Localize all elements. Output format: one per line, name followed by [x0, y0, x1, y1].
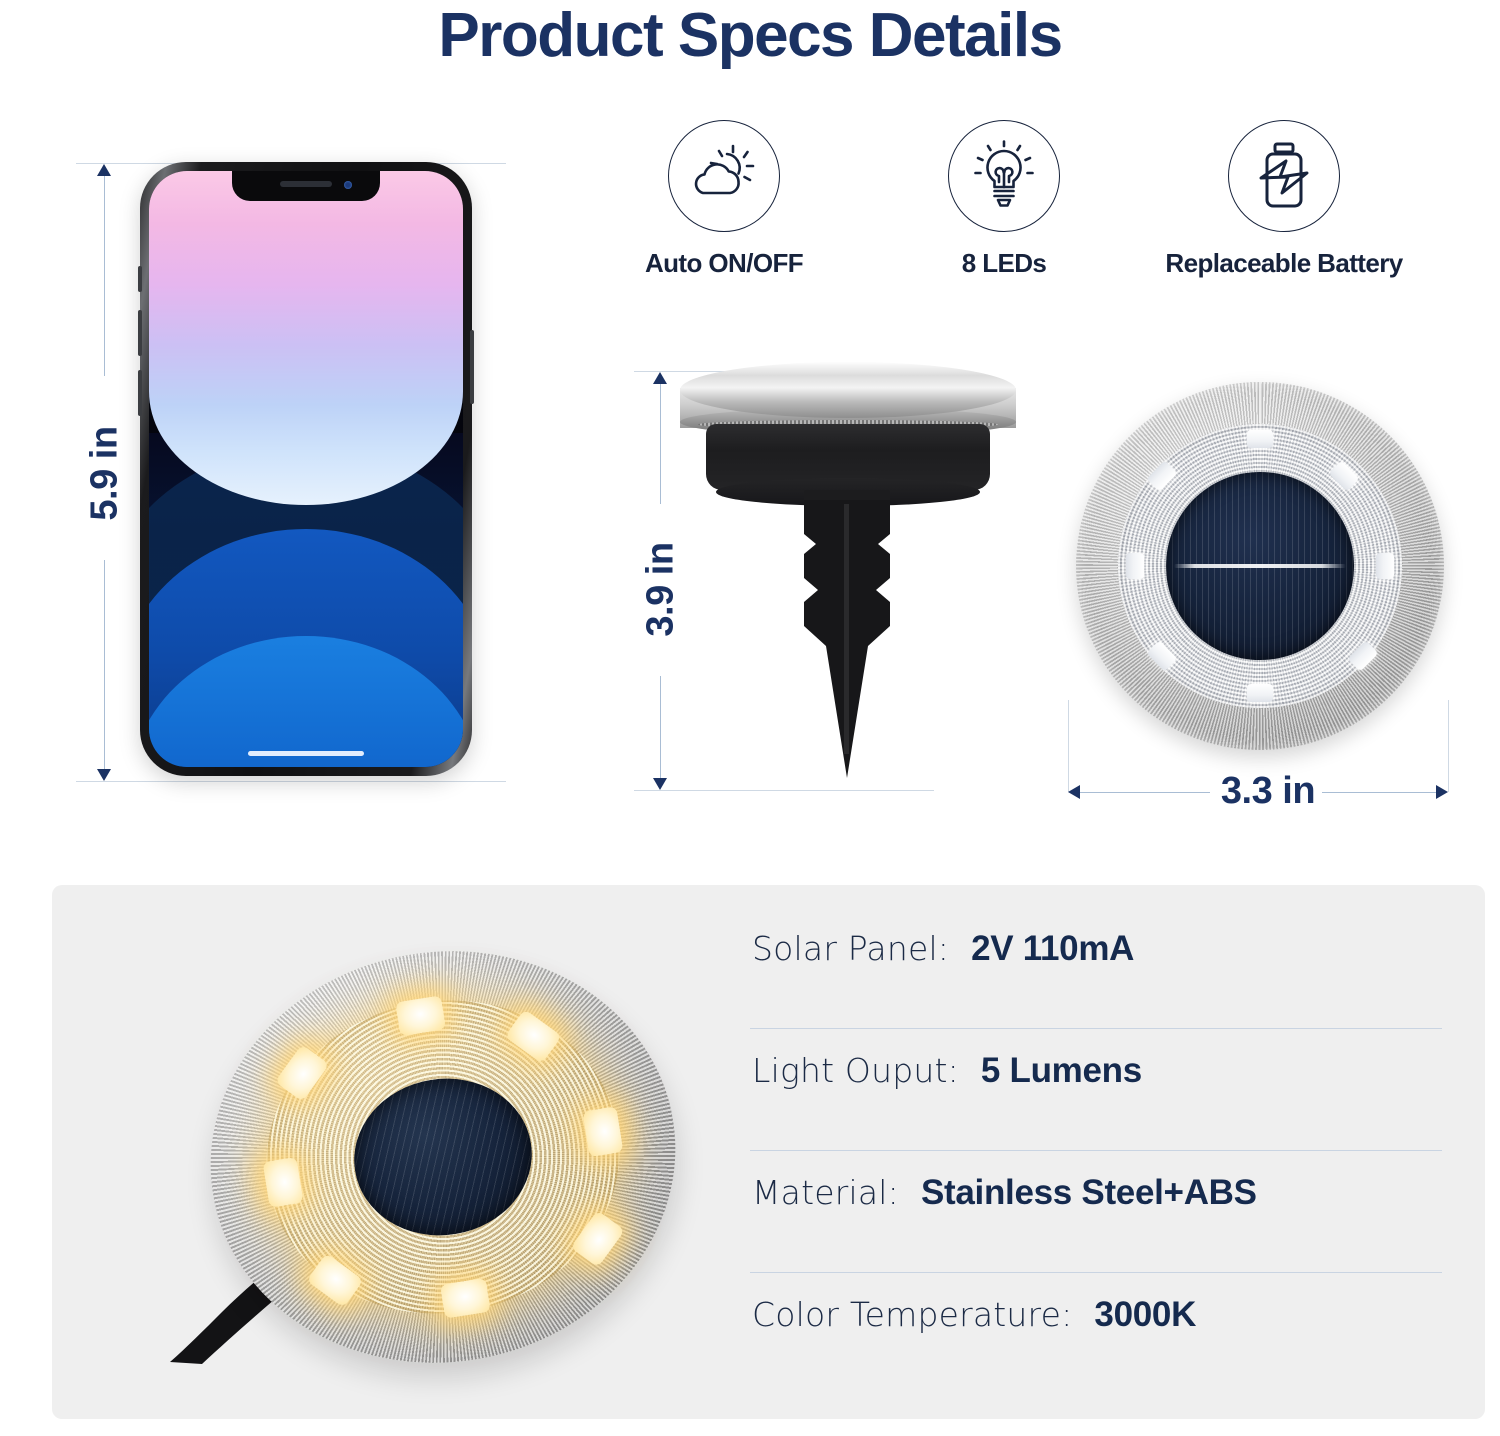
- dim-extension-left-top-view: [1068, 700, 1069, 792]
- solar-panel-busbar: [1174, 564, 1347, 568]
- phone-earpiece-speaker: [280, 181, 332, 187]
- dim-line-phone-lower: [104, 560, 105, 770]
- dim-extension-right-top-view: [1448, 700, 1449, 792]
- spec-label: Color Temperature:: [752, 1295, 1072, 1334]
- feature-label: 8 LEDs: [962, 248, 1047, 279]
- spec-value: 2V 110mA: [971, 929, 1134, 969]
- page-title: Product Specs Details: [0, 2, 1500, 70]
- feature-highlights: Auto ON/OFF: [600, 120, 1400, 300]
- phone-body: [140, 162, 472, 776]
- specs-table: Solar Panel: 2V 110mA Light Ouput: 5 Lum…: [750, 907, 1450, 1397]
- spec-row-solar-panel: Solar Panel: 2V 110mA: [750, 907, 1450, 1029]
- hero-led-chip: [440, 1278, 491, 1319]
- spec-row-light-output: Light Ouput: 5 Lumens: [750, 1029, 1450, 1151]
- dimension-label-phone-height: 5.9 in: [84, 411, 127, 537]
- ground-light-top-view: [1076, 382, 1444, 750]
- spec-value: Stainless Steel+ABS: [921, 1173, 1257, 1213]
- phone-screen: [149, 171, 463, 767]
- hero-led-chip: [263, 1157, 304, 1208]
- feature-auto-on-off: Auto ON/OFF: [594, 120, 854, 279]
- dimension-label-light-diameter: 3.3 in: [1210, 770, 1326, 813]
- hero-led-chip: [583, 1106, 624, 1157]
- product-hero-image: [162, 930, 722, 1380]
- hero-illuminated-diffuser: [244, 975, 643, 1338]
- dim-arrow-right: [1436, 785, 1448, 799]
- battery-bolt-icon: [1255, 141, 1313, 211]
- feature-icon-frame: [1228, 120, 1340, 232]
- phone-volume-down-button: [138, 370, 142, 416]
- dim-arrow-left: [1068, 785, 1080, 799]
- phone-volume-up-button: [138, 310, 142, 356]
- feature-8-leds: 8 LEDs: [874, 120, 1134, 279]
- spec-label: Light Ouput:: [752, 1051, 959, 1090]
- spec-label: Solar Panel:: [752, 929, 949, 968]
- spec-row-color-temperature: Color Temperature: 3000K: [750, 1273, 1450, 1395]
- wallpaper-top-gradient: [149, 171, 463, 505]
- spec-value: 3000K: [1094, 1295, 1196, 1335]
- dim-line-phone-upper: [104, 176, 105, 376]
- feature-icon-frame: [668, 120, 780, 232]
- ground-stake-spike: [768, 500, 926, 778]
- dim-arrow-bottom: [97, 769, 111, 781]
- specs-panel: Solar Panel: 2V 110mA Light Ouput: 5 Lum…: [52, 885, 1485, 1419]
- phone-power-button: [470, 330, 474, 404]
- feature-icon-frame: [948, 120, 1060, 232]
- led-chip: [1126, 553, 1144, 579]
- phone-home-indicator: [248, 751, 364, 756]
- spec-row-material: Material: Stainless Steel+ABS: [750, 1151, 1450, 1273]
- infographic-page: Product Specs Details A: [0, 0, 1500, 1436]
- sun-behind-cloud-icon: [687, 143, 761, 209]
- dim-arrow-top: [97, 164, 111, 176]
- ground-light-side-view: [660, 362, 1040, 792]
- led-chip: [1247, 430, 1273, 448]
- feature-label: Auto ON/OFF: [645, 248, 803, 279]
- solar-panel-cell: [1166, 472, 1354, 660]
- phone-front-camera: [344, 181, 352, 189]
- spec-value: 5 Lumens: [981, 1051, 1142, 1091]
- spec-label: Material:: [752, 1173, 899, 1212]
- feature-replaceable-battery: Replaceable Battery: [1154, 120, 1414, 279]
- light-bulb-icon: [971, 140, 1037, 212]
- dim-line-diameter-left: [1080, 792, 1210, 793]
- light-steel-top-disc: [680, 362, 1016, 418]
- led-chip: [1247, 684, 1273, 702]
- led-chip: [1376, 553, 1394, 579]
- reference-phone: [140, 162, 480, 782]
- phone-mute-switch: [138, 266, 142, 292]
- dim-line-diameter-right: [1322, 792, 1436, 793]
- feature-label: Replaceable Battery: [1165, 248, 1402, 279]
